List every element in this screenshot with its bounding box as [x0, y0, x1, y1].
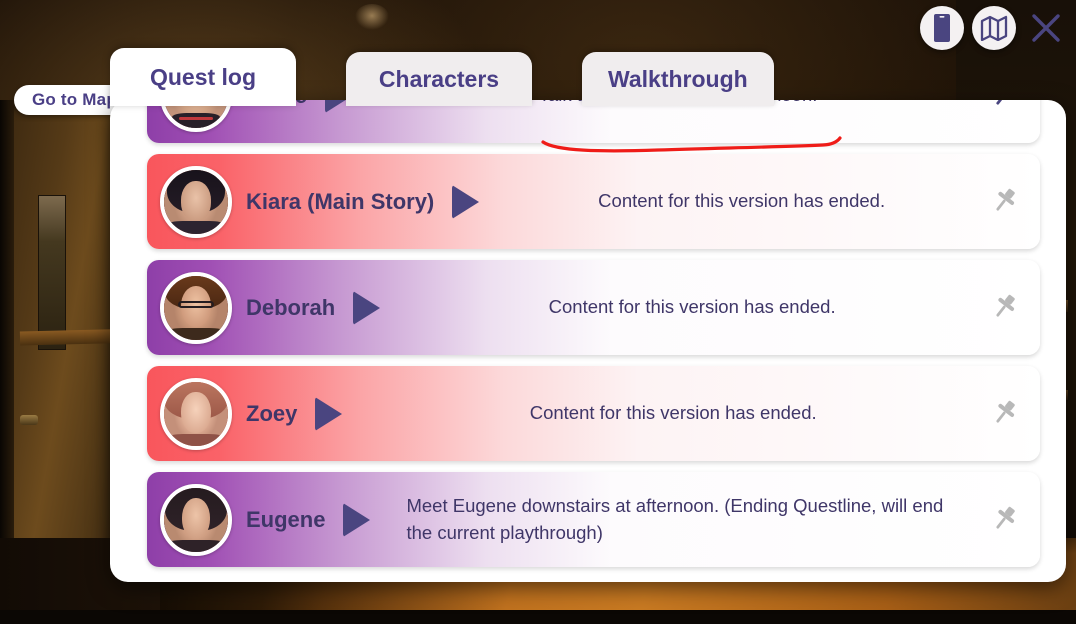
quest-task-text: Meet Eugene downstairs at afternoon. (En… — [370, 493, 980, 547]
background-door-edge — [0, 100, 14, 580]
tab-bar: Quest log Characters Walkthrough — [110, 48, 774, 106]
background-lamp-glow — [355, 4, 389, 30]
avatar-eugene — [160, 484, 232, 556]
background-bottom-edge — [0, 610, 1076, 624]
character-name: Kiara (Main Story) — [246, 189, 434, 215]
quest-row-zoey[interactable]: Zoey Content for this version has ended. — [147, 366, 1040, 461]
play-button[interactable] — [452, 185, 479, 219]
quest-task-text: Content for this version has ended. — [380, 294, 980, 321]
character-name: Eugene — [246, 507, 325, 533]
topbar-icon-group — [920, 6, 1068, 50]
quest-list: Claire Talk to claire in class at aftern… — [110, 100, 1066, 577]
quest-log-panel: Claire Talk to claire in class at aftern… — [110, 100, 1066, 582]
avatar-deborah — [160, 272, 232, 344]
play-button[interactable] — [343, 503, 370, 537]
character-name: Deborah — [246, 295, 335, 321]
tab-walkthrough[interactable]: Walkthrough — [582, 52, 774, 106]
map-button[interactable] — [972, 6, 1016, 50]
quest-task-text: Content for this version has ended. — [342, 400, 980, 427]
pin-icon — [988, 397, 1022, 431]
tab-characters[interactable]: Characters — [346, 52, 532, 106]
avatar-zoey — [160, 378, 232, 450]
pin-button[interactable] — [980, 397, 1030, 431]
quest-row-eugene[interactable]: Eugene Meet Eugene downstairs at afterno… — [147, 472, 1040, 567]
quest-row-claire[interactable]: Claire Talk to claire in class at aftern… — [147, 100, 1040, 143]
pin-button[interactable] — [980, 100, 1030, 113]
avatar-kiara — [160, 166, 232, 238]
pin-icon — [988, 291, 1022, 325]
tab-quest-log[interactable]: Quest log — [110, 48, 296, 106]
game-screen: Go to Map Quest log Characters Walkthrou… — [0, 0, 1076, 624]
quest-row-kiara[interactable]: Kiara (Main Story) Content for this vers… — [147, 154, 1040, 249]
pin-button[interactable] — [980, 503, 1030, 537]
quest-task-text: Content for this version has ended. — [479, 188, 980, 215]
close-button[interactable] — [1024, 6, 1068, 50]
pin-icon — [988, 100, 1022, 113]
phone-icon — [932, 13, 952, 43]
quest-row-deborah[interactable]: Deborah Content for this version has end… — [147, 260, 1040, 355]
close-icon — [1029, 11, 1063, 45]
pin-icon — [988, 503, 1022, 537]
background-door-plate — [38, 195, 66, 350]
map-icon — [980, 15, 1008, 41]
play-button[interactable] — [315, 397, 342, 431]
pin-icon — [988, 185, 1022, 219]
pin-button[interactable] — [980, 185, 1030, 219]
background-door-handle — [20, 415, 38, 425]
pin-button[interactable] — [980, 291, 1030, 325]
phone-button[interactable] — [920, 6, 964, 50]
play-button[interactable] — [353, 291, 380, 325]
character-name: Zoey — [246, 401, 297, 427]
